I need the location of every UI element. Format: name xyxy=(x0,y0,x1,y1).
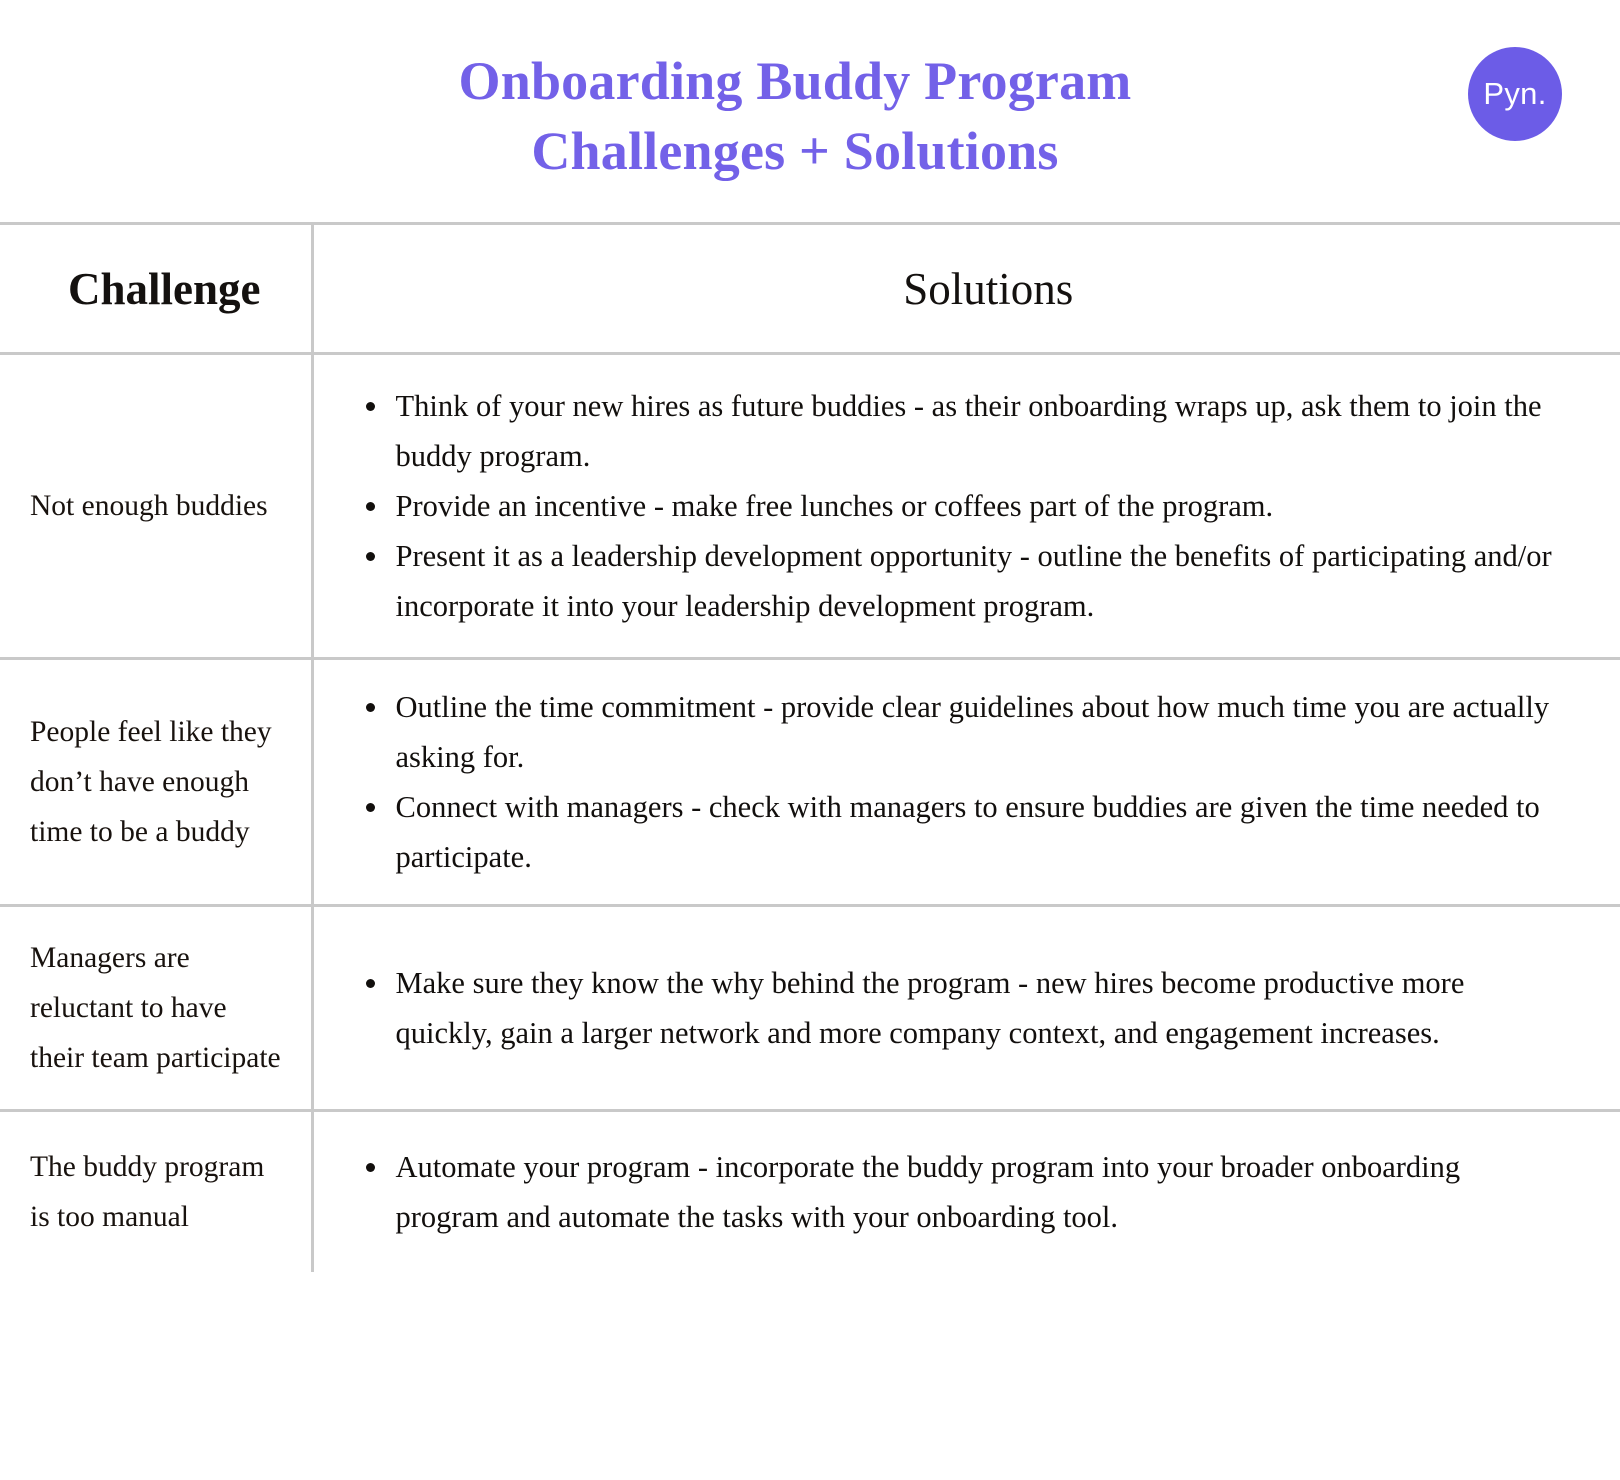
pyn-logo-badge: Pyn. xyxy=(1468,47,1562,141)
solutions-list: Think of your new hires as future buddie… xyxy=(358,381,1563,631)
challenge-cell: People feel like they don’t have enough … xyxy=(0,659,312,906)
document-header: Onboarding Buddy Program Challenges + So… xyxy=(0,0,1620,222)
solution-item: Automate your program - incorporate the … xyxy=(358,1142,1563,1242)
table-body: Not enough buddies Think of your new hir… xyxy=(0,354,1620,1273)
solution-item: Connect with managers - check with manag… xyxy=(358,782,1563,882)
challenge-text: People feel like they don’t have enough … xyxy=(30,707,285,857)
challenge-cell: The buddy program is too manual xyxy=(0,1111,312,1273)
table-header-row: Challenge Solutions xyxy=(0,224,1620,354)
solution-item: Think of your new hires as future buddie… xyxy=(358,381,1563,481)
solution-item: Present it as a leadership development o… xyxy=(358,531,1563,631)
solution-item: Provide an incentive - make free lunches… xyxy=(358,481,1563,531)
challenges-solutions-table: Challenge Solutions Not enough buddies T… xyxy=(0,222,1620,1272)
solutions-cell: Automate your program - incorporate the … xyxy=(312,1111,1620,1273)
pyn-logo-label: Pyn. xyxy=(1483,78,1546,109)
page-title: Onboarding Buddy Program Challenges + So… xyxy=(0,46,1620,186)
table-row: People feel like they don’t have enough … xyxy=(0,659,1620,906)
table-row: Not enough buddies Think of your new hir… xyxy=(0,354,1620,659)
table-head: Challenge Solutions xyxy=(0,224,1620,354)
solution-item: Make sure they know the why behind the p… xyxy=(358,958,1563,1058)
column-header-challenge: Challenge xyxy=(0,224,312,354)
table-row: Managers are reluctant to have their tea… xyxy=(0,906,1620,1111)
solutions-cell: Outline the time commitment - provide cl… xyxy=(312,659,1620,906)
challenge-cell: Not enough buddies xyxy=(0,354,312,659)
solutions-cell: Think of your new hires as future buddie… xyxy=(312,354,1620,659)
solutions-list: Make sure they know the why behind the p… xyxy=(358,958,1563,1058)
page-title-line-2: Challenges + Solutions xyxy=(0,116,1590,186)
challenge-cell: Managers are reluctant to have their tea… xyxy=(0,906,312,1111)
document-page: Onboarding Buddy Program Challenges + So… xyxy=(0,0,1620,1480)
challenge-text: Not enough buddies xyxy=(30,481,285,531)
challenge-text: The buddy program is too manual xyxy=(30,1142,285,1242)
solutions-cell: Make sure they know the why behind the p… xyxy=(312,906,1620,1111)
solutions-list: Outline the time commitment - provide cl… xyxy=(358,682,1563,882)
table-row: The buddy program is too manual Automate… xyxy=(0,1111,1620,1273)
challenge-text: Managers are reluctant to have their tea… xyxy=(30,933,285,1083)
solutions-list: Automate your program - incorporate the … xyxy=(358,1142,1563,1242)
solution-item: Outline the time commitment - provide cl… xyxy=(358,682,1563,782)
column-header-solutions: Solutions xyxy=(312,224,1620,354)
page-title-line-1: Onboarding Buddy Program xyxy=(0,46,1590,116)
